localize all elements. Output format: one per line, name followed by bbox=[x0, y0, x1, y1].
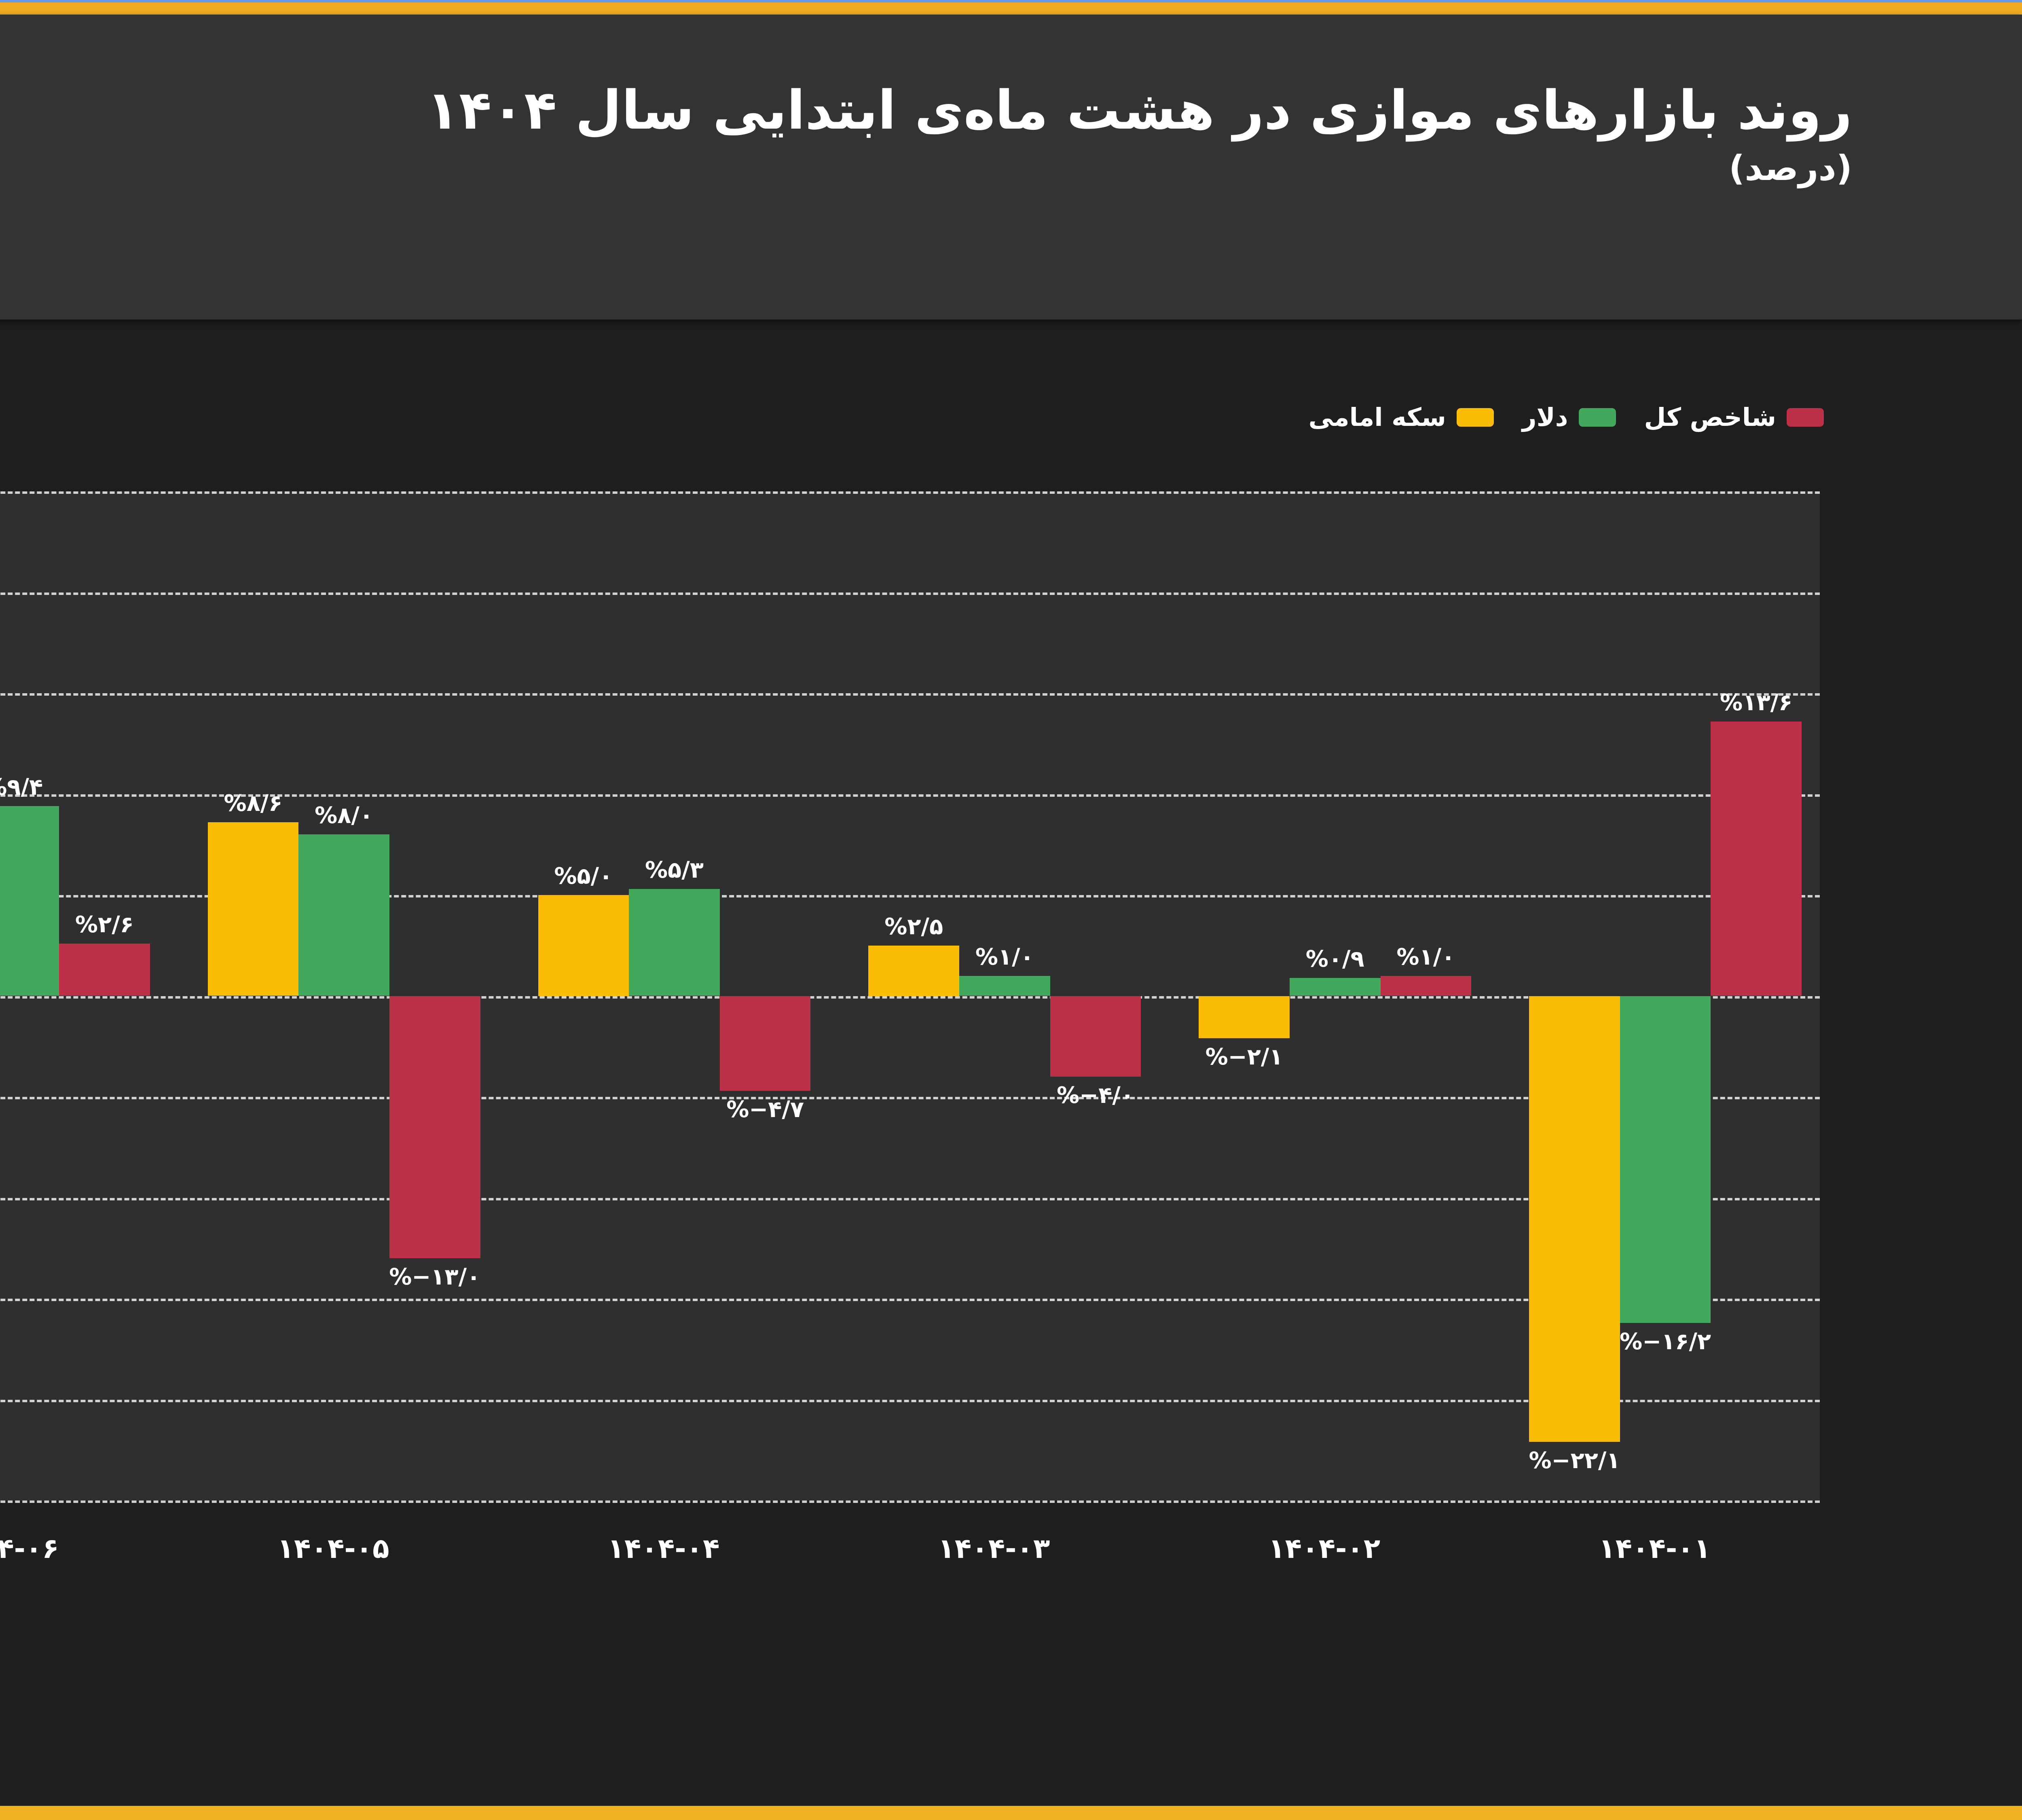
bar-value-label: %۰/۹ bbox=[1306, 946, 1364, 972]
bar[interactable]: %۸/۰ bbox=[298, 834, 389, 996]
plot-area: %−۲۲/۱%−۱۶/۲%۱۳/۶%−۲/۱%۰/۹%۱/۰%۲/۵%۱/۰%−… bbox=[0, 491, 1820, 1500]
bar-group: %۵/۰%۵/۳%−۴/۷ bbox=[499, 491, 829, 1500]
legend-item[interactable]: سکه امامی bbox=[1309, 402, 1494, 432]
bar-group: %−۲/۱%۰/۹%۱/۰ bbox=[1159, 491, 1489, 1500]
bar[interactable]: %−۲/۱ bbox=[1199, 996, 1290, 1039]
bar[interactable]: %۱/۰ bbox=[959, 976, 1050, 996]
chart-legend: شاخص کلدلارسکه امامی bbox=[1309, 402, 1824, 432]
header-panel: روند بازارهای موازی در هشت ماه‌ی ابتدایی… bbox=[0, 15, 2022, 320]
page-subtitle: (درصد) bbox=[1729, 148, 1852, 188]
legend-swatch-emami-coin bbox=[1457, 408, 1494, 427]
bar[interactable]: %۲/۶ bbox=[59, 944, 150, 996]
bar-value-label: %−۱۳/۰ bbox=[389, 1264, 480, 1290]
bar[interactable]: %۹/۴ bbox=[0, 806, 59, 996]
bar-groups: %−۲۲/۱%−۱۶/۲%۱۳/۶%−۲/۱%۰/۹%۱/۰%۲/۵%۱/۰%−… bbox=[0, 491, 1820, 1500]
bar-value-label: %۲/۵ bbox=[884, 914, 943, 940]
bar[interactable]: %−۴/۰ bbox=[1050, 996, 1141, 1077]
bar-value-label: %−۲۲/۱ bbox=[1529, 1448, 1620, 1474]
bar-value-label: %۸/۶ bbox=[224, 790, 282, 817]
x-axis-labels: ۱۴۰۴-۰۱۱۴۰۴-۰۲۱۴۰۴-۰۳۱۴۰۴-۰۴۱۴۰۴-۰۵۱۴۰۴-… bbox=[0, 1533, 1820, 1614]
bar-value-label: %۹/۴ bbox=[0, 774, 43, 800]
bar-value-label: %۱/۰ bbox=[975, 944, 1034, 970]
legend-label: شاخص کل bbox=[1644, 402, 1777, 432]
bar[interactable]: %−۴/۷ bbox=[720, 996, 811, 1091]
bar-value-label: %۲/۶ bbox=[75, 912, 134, 938]
bar-value-label: %۱۳/۶ bbox=[1720, 690, 1792, 716]
legend-item[interactable]: شاخص کل bbox=[1644, 402, 1824, 432]
bar[interactable]: %۰/۹ bbox=[1290, 978, 1381, 996]
legend-item[interactable]: دلار bbox=[1522, 402, 1616, 432]
bar[interactable]: %−۱۶/۲ bbox=[1620, 996, 1711, 1323]
bar[interactable]: %−۲۲/۱ bbox=[1529, 996, 1620, 1442]
bar[interactable]: %۱۳/۶ bbox=[1711, 722, 1802, 996]
bar-value-label: %−۴/۷ bbox=[726, 1096, 804, 1123]
bar-group: %۲/۵%۱/۰%−۴/۰ bbox=[829, 491, 1159, 1500]
bar-value-label: %۵/۳ bbox=[645, 857, 704, 883]
x-tick-label: ۱۴۰۴-۰۲ bbox=[1159, 1533, 1489, 1614]
bar-group: %−۲۲/۱%−۱۶/۲%۱۳/۶ bbox=[1489, 491, 1820, 1500]
bar-group: %۸/۶%۸/۰%−۱۳/۰ bbox=[168, 491, 499, 1500]
bar[interactable]: %۵/۳ bbox=[629, 889, 720, 996]
bar-group: %۱۶/۸%۹/۴%۲/۶ bbox=[0, 491, 168, 1500]
page-title: روند بازارهای موازی در هشت ماه‌ی ابتدایی… bbox=[426, 79, 1852, 142]
x-tick-label: ۱۴۰۴-۰۱ bbox=[1489, 1533, 1820, 1614]
bar[interactable]: %−۱۳/۰ bbox=[389, 996, 480, 1259]
x-tick-label: ۱۴۰۴-۰۳ bbox=[829, 1533, 1159, 1614]
bar-value-label: %۱/۰ bbox=[1396, 944, 1455, 970]
plot-wrap: %−۲۲/۱%−۱۶/۲%۱۳/۶%−۲/۱%۰/۹%۱/۰%۲/۵%۱/۰%−… bbox=[0, 491, 1820, 1500]
legend-swatch-dollar bbox=[1579, 408, 1616, 427]
x-tick-label: ۱۴۰۴-۰۵ bbox=[168, 1533, 499, 1614]
legend-label: دلار bbox=[1522, 402, 1568, 432]
x-tick-label: ۱۴۰۴-۰۴ bbox=[499, 1533, 829, 1614]
legend-swatch-total-index bbox=[1787, 408, 1824, 427]
x-tick-label: ۱۴۰۴-۰۶ bbox=[0, 1533, 168, 1614]
bar[interactable]: %۸/۶ bbox=[208, 822, 299, 996]
bar-value-label: %−۲/۱ bbox=[1206, 1044, 1283, 1070]
legend-label: سکه امامی bbox=[1309, 402, 1446, 432]
bar[interactable]: %۵/۰ bbox=[538, 895, 629, 996]
top-accent-bar bbox=[0, 2, 2022, 15]
bar-value-label: %۸/۰ bbox=[315, 802, 373, 829]
gridline bbox=[0, 1500, 1820, 1503]
bar-value-label: %−۱۶/۲ bbox=[1620, 1329, 1711, 1355]
bar-value-label: %−۴/۰ bbox=[1057, 1082, 1134, 1109]
bar[interactable]: %۱/۰ bbox=[1381, 976, 1472, 996]
bar-value-label: %۵/۰ bbox=[554, 863, 613, 889]
bottom-accent-bar bbox=[0, 1806, 2022, 1820]
bar[interactable]: %۲/۵ bbox=[868, 946, 959, 996]
